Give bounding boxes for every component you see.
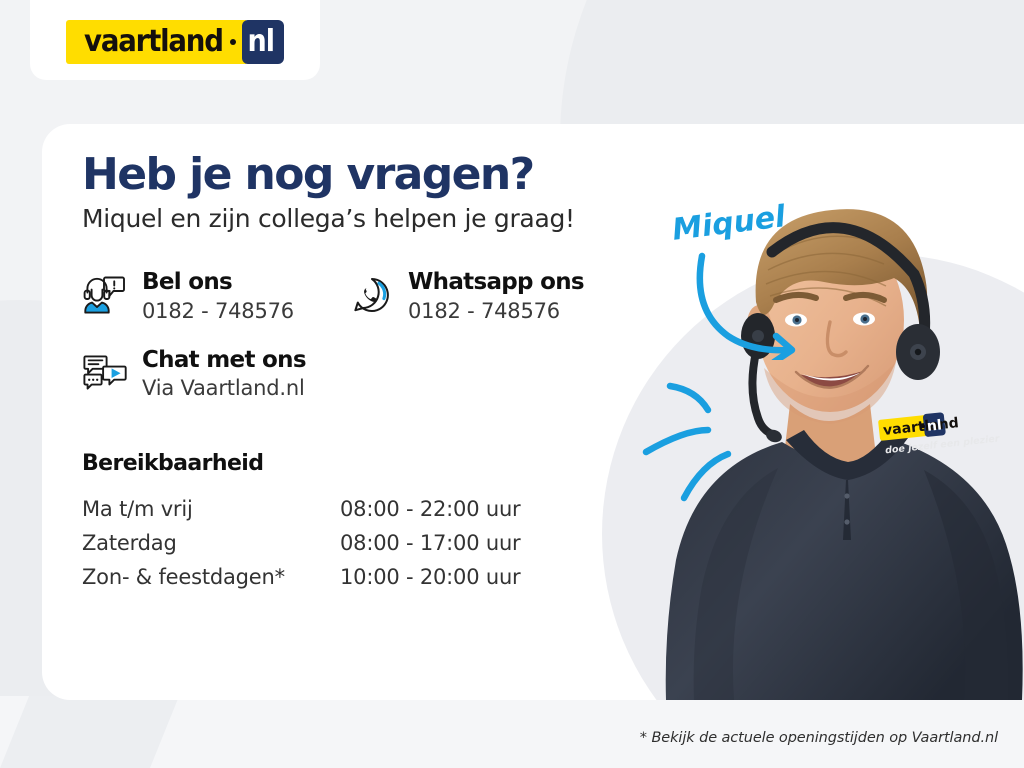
table-row: Zon- & feestdagen* 10:00 - 20:00 uur [82,560,682,594]
contact-chat-text: Chat met ons Via Vaartland.nl [142,347,306,403]
chat-bubbles-icon [82,349,128,395]
logo-wordmark: vaartland [84,27,223,57]
contact-row-primary: Bel ons 0182 - 748576 [82,269,682,347]
contact-call-text: Bel ons 0182 - 748576 [142,269,294,325]
content-column: Heb je nog vragen? Miquel en zijn colleg… [82,152,682,594]
logo-dot-icon [230,39,236,45]
contact-whatsapp-text: Whatsapp ons 0182 - 748576 [408,269,584,325]
table-row: Ma t/m vrij 08:00 - 22:00 uur [82,492,682,526]
hours-time-value: 08:00 - 22:00 uur [340,492,521,526]
contact-whatsapp[interactable]: Whatsapp ons 0182 - 748576 [348,269,584,325]
promo-banner: Heb je nog vragen? Miquel en zijn colleg… [0,0,1024,768]
contact-chat-title: Chat met ons [142,347,306,373]
curved-arrow-icon [690,250,810,360]
polo-logo-tld: nl [926,417,942,434]
opening-hours-title: Bereikbaarheid [82,451,682,476]
hours-day-label: Zon- & feestdagen* [82,560,340,594]
page-subtitle: Miquel en zijn collega’s helpen je graag… [82,204,682,233]
vaartland-logo: vaartland nl [66,20,284,64]
blue-spark-strokes-icon [640,360,770,505]
contact-methods: Bel ons 0182 - 748576 [82,269,682,402]
contact-call[interactable]: Bel ons 0182 - 748576 [82,269,348,325]
logo-yellow-block: vaartland [66,20,246,64]
whatsapp-icon [348,271,394,317]
contact-chat[interactable]: Chat met ons Via Vaartland.nl [82,347,348,403]
hours-day-label: Zaterdag [82,526,340,560]
logo-navy-block: nl [242,20,285,64]
logo-tld: nl [247,27,274,57]
contact-whatsapp-number: 0182 - 748576 [408,298,584,325]
footer-diagonal-accent [0,696,179,768]
hours-time-value: 08:00 - 17:00 uur [340,526,521,560]
contact-call-title: Bel ons [142,269,232,295]
opening-hours: Bereikbaarheid Ma t/m vrij 08:00 - 22:00… [82,451,682,594]
contact-call-number: 0182 - 748576 [142,298,294,325]
contact-whatsapp-title: Whatsapp ons [408,269,584,295]
brand-logo-card[interactable]: vaartland nl [30,0,320,80]
hours-day-label: Ma t/m vrij [82,492,340,526]
table-row: Zaterdag 08:00 - 17:00 uur [82,526,682,560]
hours-time-value: 10:00 - 20:00 uur [340,560,521,594]
contact-chat-value: Via Vaartland.nl [142,375,306,402]
footnote-text: * Bekijk de actuele openingstijden op Va… [640,730,998,746]
page-title: Heb je nog vragen? [82,152,682,198]
headset-person-icon [82,271,128,317]
